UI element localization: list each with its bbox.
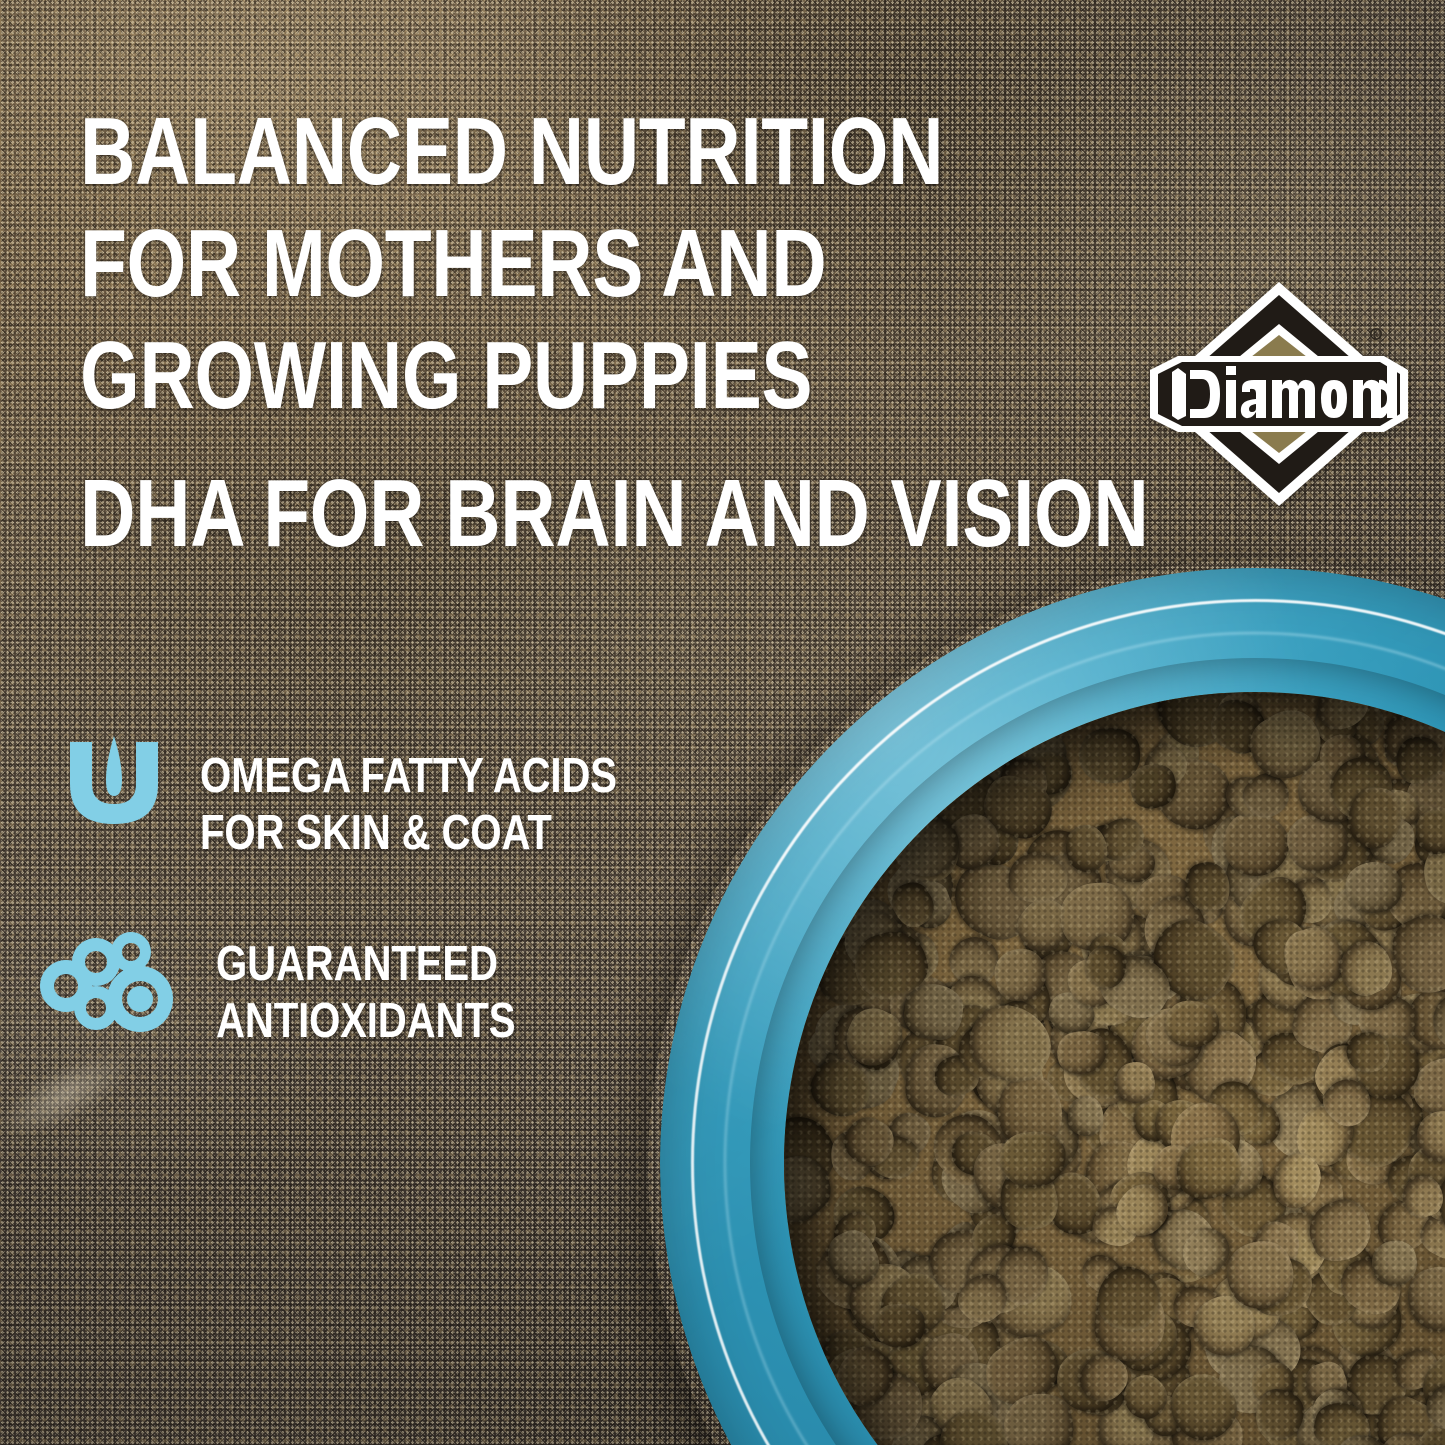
kibble-piece (1396, 737, 1444, 785)
feature-omega-fatty-acids: OMEGA FATTY ACIDS FOR SKIN & COAT (60, 736, 708, 862)
kibble-piece (1069, 1096, 1104, 1137)
headline-line-2: FOR MOTHERS AND (80, 208, 904, 320)
headline: BALANCED NUTRITION FOR MOTHERS AND GROWI… (80, 96, 904, 432)
headline-line-1: BALANCED NUTRITION (80, 96, 904, 208)
diamond-brand-logo: R (1148, 278, 1410, 510)
feature-omega-line-2: FOR SKIN & COAT (200, 805, 617, 862)
feature-omega-text: OMEGA FATTY ACIDS FOR SKIN & COAT (200, 748, 617, 862)
feature-omega-line-1: OMEGA FATTY ACIDS (200, 748, 617, 805)
molecule-icon (36, 930, 176, 1040)
headline-line-3: GROWING PUPPIES (80, 320, 904, 432)
feature-antioxidants-line-1: GUARANTEED (216, 936, 515, 993)
kibble-piece (1008, 853, 1067, 902)
logo-registered-glyph: R (1374, 331, 1379, 339)
subheadline: DHA FOR BRAIN AND VISION (80, 466, 1148, 562)
product-banner: BALANCED NUTRITION FOR MOTHERS AND GROWI… (0, 0, 1445, 1445)
feature-antioxidants-line-2: ANTIOXIDANTS (216, 993, 515, 1050)
feature-antioxidants-text: GUARANTEED ANTIOXIDANTS (216, 936, 515, 1050)
feature-guaranteed-antioxidants: GUARANTEED ANTIOXIDANTS (36, 930, 581, 1050)
droplet-icon (60, 736, 168, 833)
kibble-piece (1164, 1000, 1219, 1047)
